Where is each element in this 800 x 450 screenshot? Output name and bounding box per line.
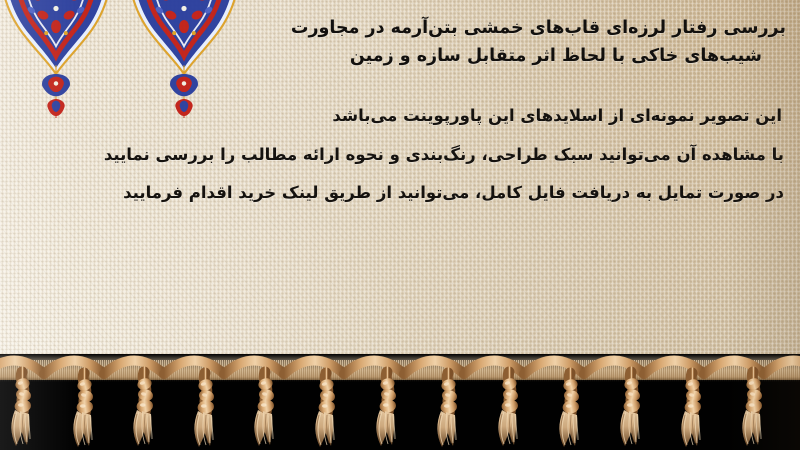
slide-title: بررسی رفتار لرزه‌ای قاب‌های خمشی بتن‌آرم…	[226, 14, 786, 71]
title-line-1: بررسی رفتار لرزه‌ای قاب‌های خمشی بتن‌آرم…	[226, 14, 786, 42]
slide-body: این تصویر نمونه‌ای از اسلایدهای این پاور…	[12, 108, 784, 224]
tassel-row	[11, 372, 763, 447]
fringe-swag-cord	[0, 361, 800, 375]
body-line-3: در صورت تمایل به دریافت فایل کامل، می‌تو…	[12, 185, 784, 202]
slide-canvas: بررسی رفتار لرزه‌ای قاب‌های خمشی بتن‌آرم…	[0, 0, 800, 450]
tassel-fringe-border	[0, 354, 800, 450]
body-line-1: این تصویر نمونه‌ای از اسلایدهای این پاور…	[12, 108, 782, 125]
fringe-tassels	[0, 354, 800, 450]
title-line-2: شیب‌های خاکی با لحاظ اثر متقابل سازه و ز…	[226, 42, 762, 70]
body-line-2: با مشاهده آن می‌توانید سبک طراحی، رنگ‌بن…	[12, 147, 784, 164]
